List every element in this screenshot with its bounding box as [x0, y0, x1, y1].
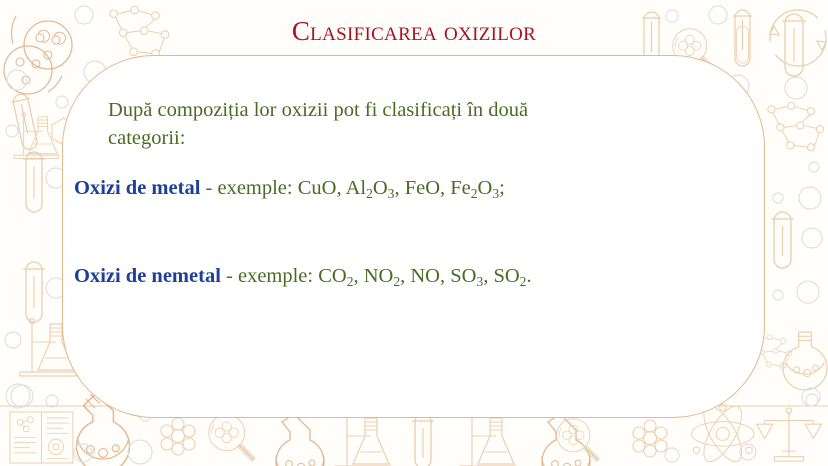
- category-metal-term: Oxizi de metal: [74, 177, 200, 199]
- test-tube-icon: [23, 262, 45, 322]
- bubble-circle-icon: [806, 394, 818, 406]
- erlenmeyer-flask-icon: [14, 112, 59, 158]
- bubble-circle-icon: [809, 162, 819, 172]
- bubble-circle-icon: [799, 187, 821, 209]
- intro-line-1: După compoziția lor oxizii pot fi clasif…: [108, 99, 528, 121]
- bubble-circle-icon: [802, 228, 822, 248]
- category-nemetal-term: Oxizi de nemetal: [74, 265, 221, 287]
- category-metal-formulas: CuO, Al2O3, FeO, Fe2O3;: [298, 177, 505, 199]
- round-flask-icon: [542, 414, 590, 466]
- bubble-circle-icon: [773, 193, 783, 203]
- bubble-circle-icon: [6, 125, 18, 137]
- bubble-circle-icon: [773, 290, 783, 300]
- test-tube-icon: [412, 414, 434, 466]
- formula-text: , NO: [353, 265, 393, 287]
- body-text-block: După compoziția lor oxizii pot fi clasif…: [74, 96, 750, 290]
- formula-text: , NO, SO: [400, 265, 476, 287]
- category-nemetal-line: Oxizi de nemetal - exemple: CO2, NO2, NO…: [74, 262, 750, 290]
- bubble-circle-icon: [128, 440, 152, 464]
- formula-text: ;: [499, 177, 505, 199]
- formula-text: O: [478, 177, 493, 199]
- test-tube-icon: [23, 152, 45, 212]
- test-tube-icon: [771, 212, 794, 268]
- molecule-hexagon-icon: [768, 102, 824, 151]
- bubble-circle-icon: [6, 384, 30, 408]
- bubble-circle-icon: [56, 96, 68, 108]
- molecule-cluster-icon: [633, 420, 667, 457]
- intro-paragraph: După compoziția lor oxizii pot fi clasif…: [74, 96, 750, 153]
- balance-scale-icon: [757, 408, 822, 461]
- formula-subscript: 2: [471, 185, 478, 200]
- formula-text: CuO, Al: [298, 177, 366, 199]
- category-metal-line: Oxizi de metal - exemple: CuO, Al2O3, Fe…: [74, 174, 750, 202]
- page-title: Clasificarea oxizilor: [0, 17, 828, 47]
- round-flask-icon: [276, 414, 324, 466]
- bubble-circle-icon: [74, 444, 92, 462]
- bubble-circle-icon: [785, 77, 807, 99]
- formula-text: , SO: [483, 265, 519, 287]
- formula-subscript: 2: [366, 185, 373, 200]
- formula-text: .: [526, 265, 531, 287]
- category-nemetal-separator: - exemple:: [221, 265, 318, 287]
- bubble-circle-icon: [46, 395, 58, 407]
- open-book-icon: [10, 412, 73, 463]
- round-flask-icon: [783, 332, 827, 390]
- bubble-circle-icon: [11, 385, 33, 407]
- category-nemetal-formulas: CO2, NO2, NO, SO3, SO2.: [318, 265, 531, 287]
- bubble-circle-icon: [5, 332, 21, 348]
- formula-text: O: [373, 177, 388, 199]
- slide-canvas: Clasificarea oxizilor După compoziția lo…: [0, 0, 828, 466]
- bubble-circle-icon: [7, 70, 27, 90]
- magnifier-molecule-icon: [209, 415, 255, 461]
- bubble-circle-icon: [802, 388, 820, 406]
- magnifier-molecule-icon: [557, 419, 599, 461]
- test-tube-icon: [10, 92, 40, 151]
- bubble-circle-icon: [740, 444, 756, 460]
- category-metal-separator: - exemple:: [200, 177, 297, 199]
- intro-line-2: categorii:: [74, 124, 750, 152]
- erlenmeyer-flask-icon: [460, 413, 516, 466]
- bubble-circle-icon: [797, 281, 819, 303]
- formula-text: CO: [318, 265, 346, 287]
- molecule-cluster-icon: [161, 418, 195, 455]
- erlenmeyer-flask-icon: [335, 413, 391, 466]
- bubble-circle-icon: [665, 448, 679, 462]
- formula-text: , FeO, Fe: [394, 177, 470, 199]
